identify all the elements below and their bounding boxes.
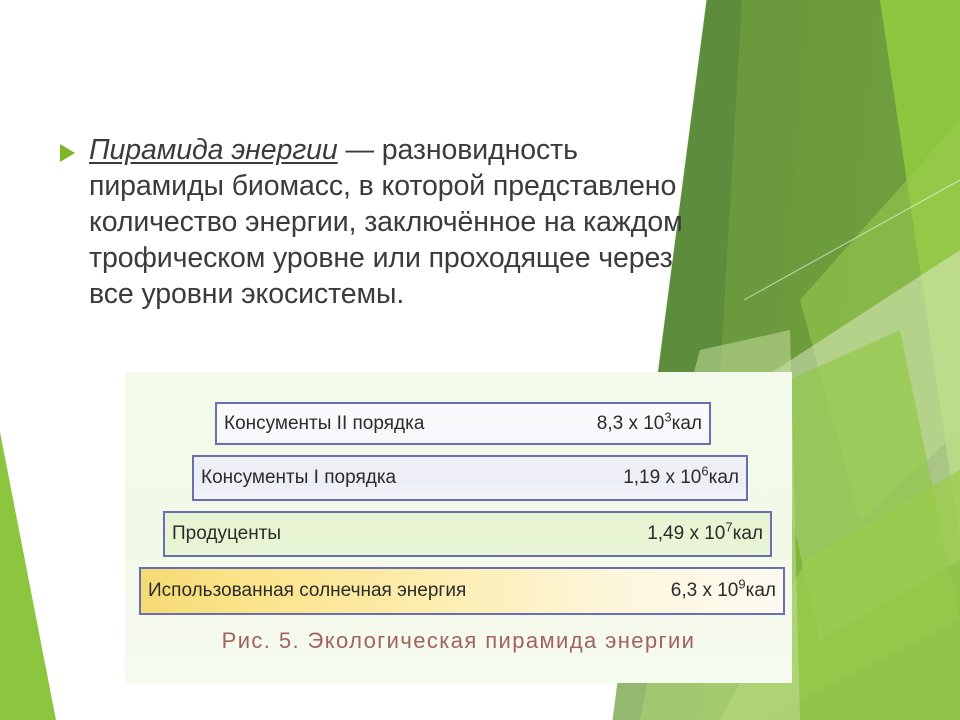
tier-value-exponent: 9	[738, 577, 745, 592]
bullet-list-item: Пирамида энергии — разновидность пирамид…	[60, 132, 720, 312]
tier-value-unit: кал	[709, 467, 739, 488]
tier-value: 8,3 x 103кал	[597, 413, 702, 435]
body-text-block: Пирамида энергии — разновидность пирамид…	[60, 132, 720, 312]
tier-value: 6,3 x 109кал	[671, 580, 776, 602]
definition-term: Пирамида энергии	[89, 134, 338, 166]
tier-value-exponent: 3	[664, 409, 671, 424]
tier-value-exponent: 7	[725, 520, 732, 535]
tier-value-mantissa: 1,19 x 10	[623, 467, 701, 488]
tier-value-mantissa: 1,49 x 10	[647, 523, 725, 544]
decor-hairline-2	[744, 180, 960, 300]
pyramid-tier-solar-energy: Использованная солнечная энергия 6,3 x 1…	[139, 567, 785, 615]
pyramid-tier-consumers-2: Консументы II порядка 8,3 x 103кал	[215, 402, 711, 445]
energy-pyramid-figure: Консументы II порядка 8,3 x 103кал Консу…	[125, 372, 792, 683]
pyramid-diagram: Консументы II порядка 8,3 x 103кал Консу…	[125, 372, 792, 637]
tier-value-unit: кал	[733, 523, 763, 544]
tier-value-mantissa: 6,3 x 10	[671, 580, 739, 601]
tier-label: Использованная солнечная энергия	[148, 580, 466, 602]
figure-caption: Рис. 5. Экологическая пирамида энергии	[125, 628, 792, 654]
decor-shape-bottom-band	[0, 688, 960, 720]
tier-label: Консументы II порядка	[224, 413, 424, 435]
decor-shape-r6	[800, 120, 960, 520]
triangle-bullet-icon	[60, 144, 75, 162]
pyramid-tier-consumers-1: Консументы I порядка 1,19 x 106кал	[192, 455, 748, 501]
tier-value: 1,49 x 107кал	[647, 523, 763, 545]
tier-label: Продуценты	[172, 523, 281, 545]
tier-value-exponent: 6	[701, 464, 708, 479]
tier-value-unit: кал	[672, 413, 702, 434]
decor-left-wedge-front	[0, 432, 56, 720]
decor-shape-left-wedge-2	[0, 460, 46, 720]
tier-value: 1,19 x 106кал	[623, 467, 739, 489]
decor-shape-left-wedge	[0, 432, 56, 720]
tier-label: Консументы I порядка	[201, 467, 396, 489]
tier-value-mantissa: 8,3 x 10	[597, 413, 665, 434]
tier-value-unit: кал	[746, 580, 776, 601]
pyramid-tier-producers: Продуценты 1,49 x 107кал	[163, 511, 772, 557]
slide: Пирамида энергии — разновидность пирамид…	[0, 0, 960, 720]
paragraph: Пирамида энергии — разновидность пирамид…	[89, 132, 720, 312]
